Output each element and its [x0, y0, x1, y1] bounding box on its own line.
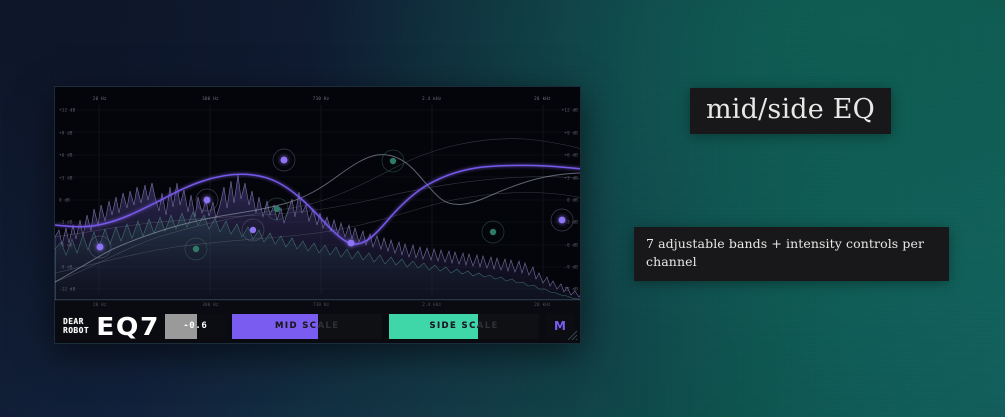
caption-title: mid/side EQ	[690, 88, 891, 134]
dear-robot-logo: DEAR ROBOT	[63, 318, 89, 335]
product-name-eq7: EQ7	[96, 314, 160, 339]
eq-graph-area[interactable]: 20 Hz 300 Hz 730 Hz 2.4 kHz 20 kHz +12 d…	[55, 87, 581, 300]
db-tick-right-2: +9 dB	[564, 130, 578, 135]
eq-response-chart	[55, 87, 581, 300]
eq-band-node-side-4[interactable]	[482, 221, 504, 243]
freq-tick-label-1: 20 Hz	[93, 96, 107, 101]
brand-line-1: DEAR	[63, 318, 89, 326]
caption-subtitle: 7 adjustable bands + intensity controls …	[634, 227, 949, 281]
bar-freq-label-2: 300 Hz	[202, 302, 218, 307]
db-tick-right-5: 0 dB	[567, 197, 578, 202]
db-tick-right-6: -3 dB	[564, 220, 578, 225]
bar-freq-label-5: 20 kHz	[534, 302, 550, 307]
eq-plugin-window[interactable]: 20 Hz 300 Hz 730 Hz 2.4 kHz 20 kHz +12 d…	[54, 86, 581, 344]
db-tick-right-9: -12 dB	[562, 287, 578, 292]
db-tick-left-2: +9 dB	[59, 130, 73, 135]
bar-freq-label-1: 20 Hz	[93, 302, 107, 307]
db-tick-left-8: -9 dB	[59, 264, 73, 269]
resize-grip-icon[interactable]	[567, 330, 578, 341]
db-tick-left-9: -12 dB	[59, 287, 75, 292]
gain-value-label: -0.6	[165, 314, 225, 339]
eq-band-node-mid-3[interactable]	[273, 149, 295, 171]
freq-tick-label-3: 730 Hz	[313, 96, 330, 101]
db-tick-right-8: -9 dB	[564, 264, 578, 269]
db-tick-left-6: -3 dB	[59, 220, 73, 225]
plugin-control-bar[interactable]: 20 Hz 300 Hz 730 Hz 2.4 kHz 20 kHz DEAR …	[55, 300, 581, 344]
eq-nodes-layer-2[interactable]	[482, 209, 573, 243]
brand-block: DEAR ROBOT EQ7	[63, 314, 158, 339]
side-scale-slider[interactable]: SIDE SCALE SIDE SCALE	[389, 314, 539, 339]
freq-tick-label-4: 2.4 kHz	[422, 96, 441, 101]
db-tick-left-1: +12 dB	[59, 108, 75, 113]
db-tick-left-7: -6 dB	[59, 242, 73, 247]
db-tick-right-4: +3 dB	[564, 175, 578, 180]
db-tick-right-7: -6 dB	[564, 242, 578, 247]
db-tick-right-1: +12 dB	[562, 108, 578, 113]
db-tick-right-3: +6 dB	[564, 153, 578, 158]
mid-side-toggle-label: M	[554, 319, 566, 333]
mid-scale-slider[interactable]: MID SCALE MID SCALE	[232, 314, 382, 339]
gain-value-field[interactable]: -0.6	[165, 314, 225, 339]
eq-band-node-mid-4[interactable]	[348, 240, 355, 247]
freq-tick-label-5: 20 kHz	[534, 96, 551, 101]
db-tick-left-5: 0 dB	[59, 197, 70, 202]
db-tick-left-4: +3 dB	[59, 175, 73, 180]
bar-freq-label-3: 730 Hz	[313, 302, 329, 307]
freq-tick-label-2: 300 Hz	[202, 96, 219, 101]
bar-freq-label-4: 2.4 kHz	[422, 302, 441, 307]
db-tick-left-3: +6 dB	[59, 153, 73, 158]
brand-line-2: ROBOT	[63, 327, 89, 335]
